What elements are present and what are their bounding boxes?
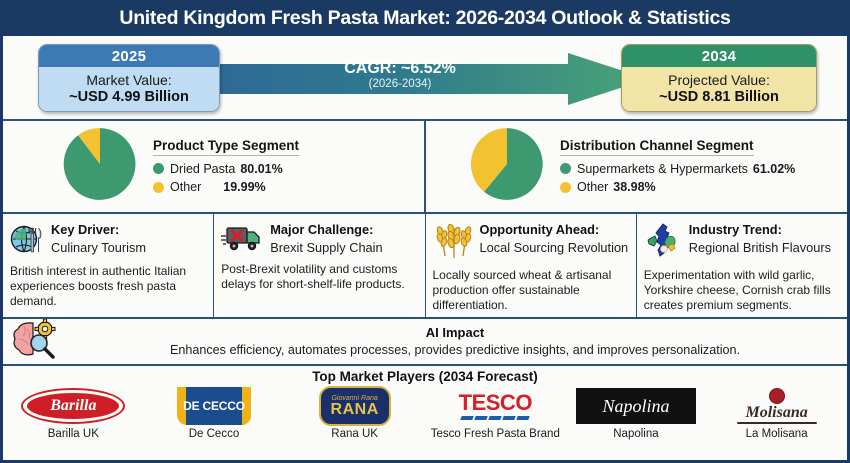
rana-logo: Giovanni Rana RANA	[319, 386, 391, 426]
legend-value: 38.98%	[613, 178, 655, 196]
barilla-logo-text: Barilla	[27, 393, 119, 419]
tesco-logo-text: TESCO	[459, 392, 532, 414]
legend-dot-green	[560, 163, 571, 174]
product-type-title: Product Type Segment	[153, 138, 299, 156]
forecast-year-amount: ~USD 8.81 Billion	[659, 89, 779, 106]
insight-subtitle: Regional British Flavours	[689, 240, 831, 255]
player-de-cecco[interactable]: DE CECCO De Cecco	[144, 386, 284, 440]
legend-label: Dried Pasta	[170, 160, 235, 178]
la-molisana-logo: Molisana	[737, 386, 817, 426]
cagr-period: (2026-2034)	[235, 78, 565, 91]
insight-description: British interest in authentic Italian ex…	[10, 264, 206, 309]
ai-impact-title: AI Impact	[71, 325, 839, 342]
market-value-band: CAGR: ~6.52% (2026-2034) 2025 Market Val…	[3, 36, 847, 121]
tesco-logo-underline	[461, 416, 529, 420]
product-type-pie-chart	[61, 125, 139, 208]
legend-label: Other	[577, 178, 608, 196]
de-cecco-logo: DE CECCO	[177, 386, 251, 426]
base-year-value-label: Market Value:	[86, 72, 171, 89]
insight-card-industry-trend: Industry Trend: Regional British Flavour…	[636, 214, 847, 317]
forecast-year-card: 2034 Projected Value: ~USD 8.81 Billion	[621, 44, 817, 112]
player-tesco[interactable]: TESCO Tesco Fresh Pasta Brand	[425, 386, 565, 440]
insight-subtitle: Local Sourcing Revolution	[480, 240, 629, 255]
player-name: Tesco Fresh Pasta Brand	[431, 428, 560, 440]
wheat-icon	[433, 220, 475, 265]
legend-label: Supermarkets & Hypermarkets	[577, 160, 748, 178]
insight-card-key-driver: Key Driver: Culinary Tourism British int…	[3, 214, 213, 317]
segment-charts-band: Product Type Segment Dried Pasta 80.01% …	[3, 121, 847, 214]
cagr-value: CAGR: ~6.52%	[235, 60, 565, 78]
legend-dot-yellow	[153, 182, 164, 193]
de-cecco-logo-text: DE CECCO	[183, 399, 245, 413]
insight-subtitle: Brexit Supply Chain	[270, 240, 382, 255]
ai-impact-band: AI Impact Enhances efficiency, automates…	[3, 319, 847, 366]
player-la-molisana[interactable]: Molisana La Molisana	[707, 386, 847, 440]
base-year-card: 2025 Market Value: ~USD 4.99 Billion	[38, 44, 220, 112]
insight-description: Post-Brexit volatility and customs delay…	[221, 262, 417, 292]
base-year-label: 2025	[39, 45, 219, 67]
insight-card-major-challenge: Major Challenge: Brexit Supply Chain Pos…	[213, 214, 424, 317]
players-title: Top Market Players (2034 Forecast)	[312, 369, 538, 384]
legend-dot-green	[153, 163, 164, 174]
legend-item: Other 38.98%	[560, 178, 839, 196]
rana-logo-text: RANA	[331, 402, 379, 418]
forecast-year-label: 2034	[622, 45, 816, 67]
legend-value: 19.99%	[223, 178, 265, 196]
distribution-channel-pie-chart	[468, 125, 546, 208]
player-name: Rana UK	[331, 428, 378, 440]
insight-description: Locally sourced wheat & artisanal produc…	[433, 268, 629, 313]
legend-value: 61.02%	[753, 160, 795, 178]
ai-impact-description: Enhances efficiency, automates processes…	[71, 342, 839, 358]
product-type-segment-cell: Product Type Segment Dried Pasta 80.01% …	[3, 121, 424, 212]
player-name: La Molisana	[746, 428, 808, 440]
la-molisana-logo-text: Molisana	[745, 405, 807, 421]
legend-dot-yellow	[560, 182, 571, 193]
globe-cutlery-icon	[10, 220, 46, 261]
truck-blocked-icon	[221, 220, 265, 259]
brain-gear-magnifier-icon	[11, 319, 67, 364]
napolina-logo: Napolina	[576, 386, 696, 426]
forecast-year-value-label: Projected Value:	[668, 72, 770, 89]
player-napolina[interactable]: Napolina Napolina	[566, 386, 706, 440]
napolina-logo-text: Napolina	[602, 396, 669, 417]
insights-band: Key Driver: Culinary Tourism British int…	[3, 214, 847, 319]
legend-value: 80.01%	[240, 160, 282, 178]
player-barilla[interactable]: Barilla Barilla UK	[3, 386, 143, 440]
tesco-logo: TESCO	[459, 386, 532, 426]
insight-description: Experimentation with wild garlic, Yorksh…	[644, 268, 840, 313]
insight-title: Industry Trend:	[689, 222, 782, 237]
legend-item: Dried Pasta 80.01%	[153, 160, 416, 178]
uk-map-icon	[644, 220, 684, 265]
la-molisana-underline	[737, 422, 817, 424]
la-molisana-seal-icon	[769, 388, 785, 404]
player-rana[interactable]: Giovanni Rana RANA Rana UK	[285, 386, 425, 440]
legend-item: Other 19.99%	[153, 178, 416, 196]
insight-subtitle: Culinary Tourism	[51, 240, 146, 255]
insight-title: Major Challenge:	[270, 222, 373, 237]
page-title: United Kingdom Fresh Pasta Market: 2026-…	[119, 7, 730, 30]
player-name: Barilla UK	[48, 428, 99, 440]
barilla-logo: Barilla	[21, 386, 125, 426]
infographic-root: United Kingdom Fresh Pasta Market: 2026-…	[0, 0, 850, 463]
legend-label: Other	[170, 178, 201, 196]
legend-item: Supermarkets & Hypermarkets 61.02%	[560, 160, 839, 178]
distribution-channel-title: Distribution Channel Segment	[560, 138, 754, 156]
top-market-players-band: Top Market Players (2034 Forecast) Baril…	[3, 366, 847, 460]
header-bar: United Kingdom Fresh Pasta Market: 2026-…	[3, 3, 847, 36]
player-name: Napolina	[613, 428, 658, 440]
distribution-channel-segment-cell: Distribution Channel Segment Supermarket…	[424, 121, 847, 212]
insight-card-opportunity: Opportunity Ahead: Local Sourcing Revolu…	[425, 214, 636, 317]
insight-title: Opportunity Ahead:	[480, 222, 600, 237]
cagr-block: CAGR: ~6.52% (2026-2034)	[235, 60, 565, 92]
insight-title: Key Driver:	[51, 222, 119, 237]
player-name: De Cecco	[189, 428, 240, 440]
base-year-amount: ~USD 4.99 Billion	[69, 89, 189, 106]
